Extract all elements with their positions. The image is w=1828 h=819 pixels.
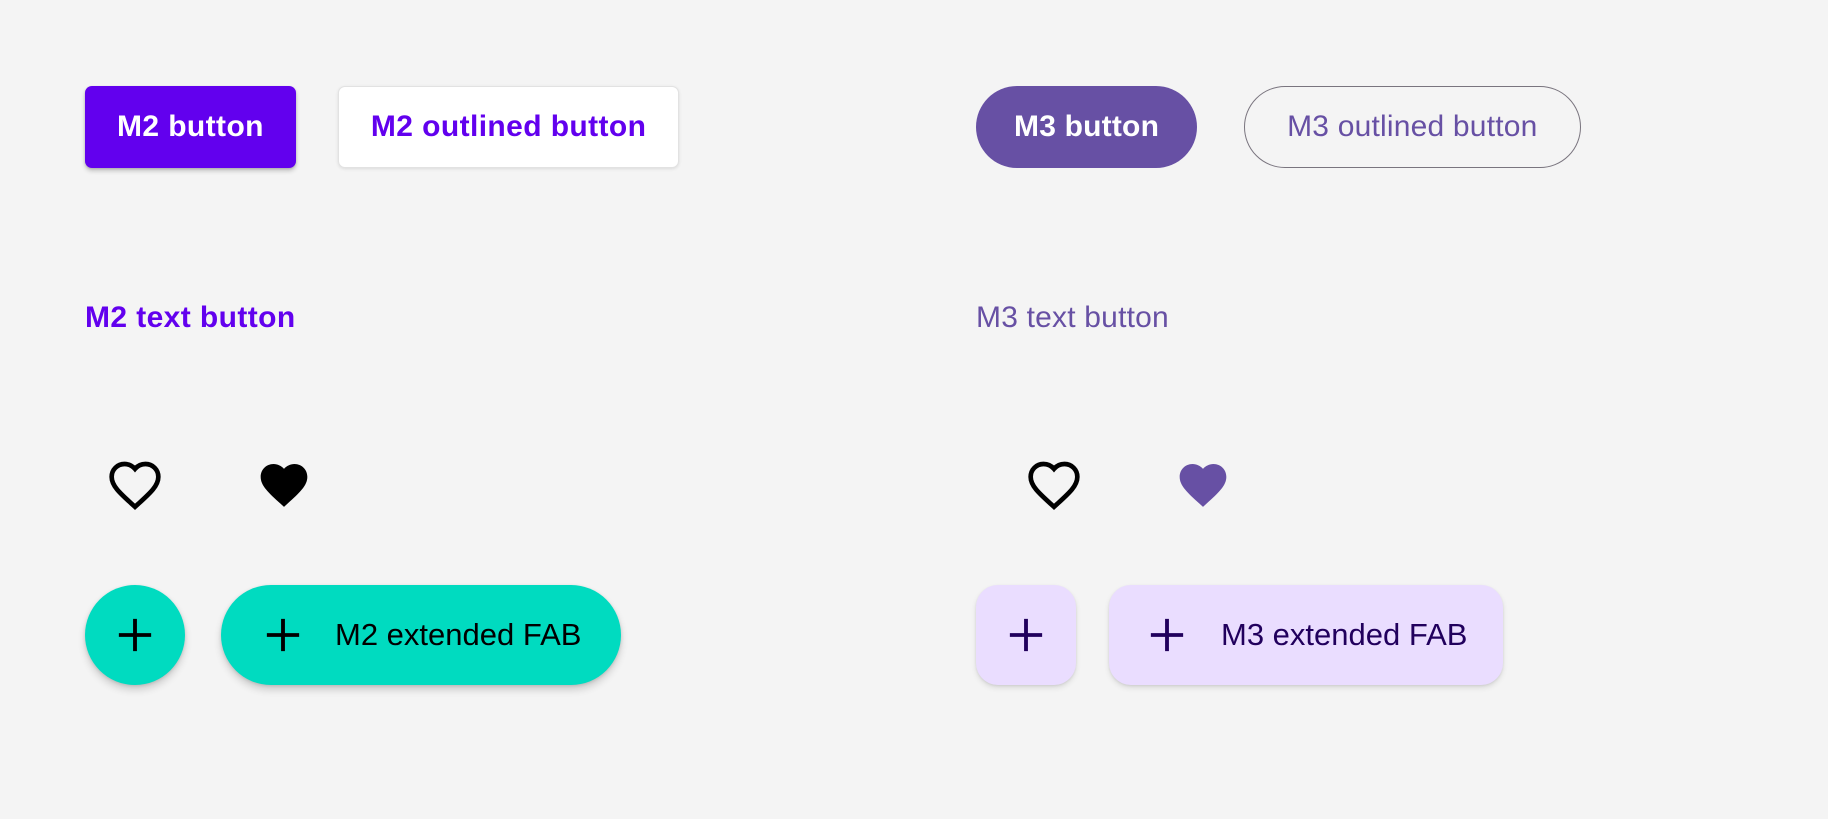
m2-outlined-button[interactable]: M2 outlined button xyxy=(338,86,679,168)
m3-filled-button[interactable]: M3 button xyxy=(976,86,1197,168)
plus-icon xyxy=(113,613,157,657)
m2-text-button[interactable]: M2 text button xyxy=(85,295,296,341)
m3-heart-outline-icon-button[interactable] xyxy=(1024,457,1084,513)
m2-fab-row: M2 extended FAB xyxy=(85,585,621,685)
m2-filled-button[interactable]: M2 button xyxy=(85,86,296,168)
m2-extended-fab[interactable]: M2 extended FAB xyxy=(221,585,621,685)
m3-fab-row: M3 extended FAB xyxy=(976,585,1503,685)
component-comparison-stage: M2 button M2 outlined button M2 text but… xyxy=(0,0,1828,819)
m3-column: M3 button M3 outlined button M3 text but… xyxy=(914,0,1828,819)
heart-outline-icon xyxy=(1024,457,1084,513)
m3-extended-fab-label: M3 extended FAB xyxy=(1221,617,1467,653)
m3-text-button[interactable]: M3 text button xyxy=(976,295,1169,341)
m2-icon-row xyxy=(105,455,314,515)
m2-extended-fab-label: M2 extended FAB xyxy=(335,617,581,653)
plus-icon xyxy=(1004,613,1048,657)
m2-fab[interactable] xyxy=(85,585,185,685)
plus-icon xyxy=(1145,613,1189,657)
m3-button-row: M3 button M3 outlined button xyxy=(976,86,1581,168)
m3-outlined-button[interactable]: M3 outlined button xyxy=(1244,86,1580,168)
m3-heart-filled-icon-button[interactable] xyxy=(1173,457,1233,513)
m3-icon-row xyxy=(1024,455,1233,515)
m2-column: M2 button M2 outlined button M2 text but… xyxy=(0,0,914,819)
heart-filled-icon xyxy=(1173,457,1233,513)
m3-text-button-row: M3 text button xyxy=(976,295,1169,341)
m3-extended-fab[interactable]: M3 extended FAB xyxy=(1109,585,1503,685)
plus-icon xyxy=(261,613,305,657)
heart-filled-icon xyxy=(254,457,314,513)
m2-heart-filled-icon-button[interactable] xyxy=(254,457,314,513)
m3-fab[interactable] xyxy=(976,585,1076,685)
heart-outline-icon xyxy=(105,457,165,513)
m2-button-row: M2 button M2 outlined button xyxy=(85,86,679,168)
m2-heart-outline-icon-button[interactable] xyxy=(105,457,165,513)
m2-text-button-row: M2 text button xyxy=(85,295,296,341)
